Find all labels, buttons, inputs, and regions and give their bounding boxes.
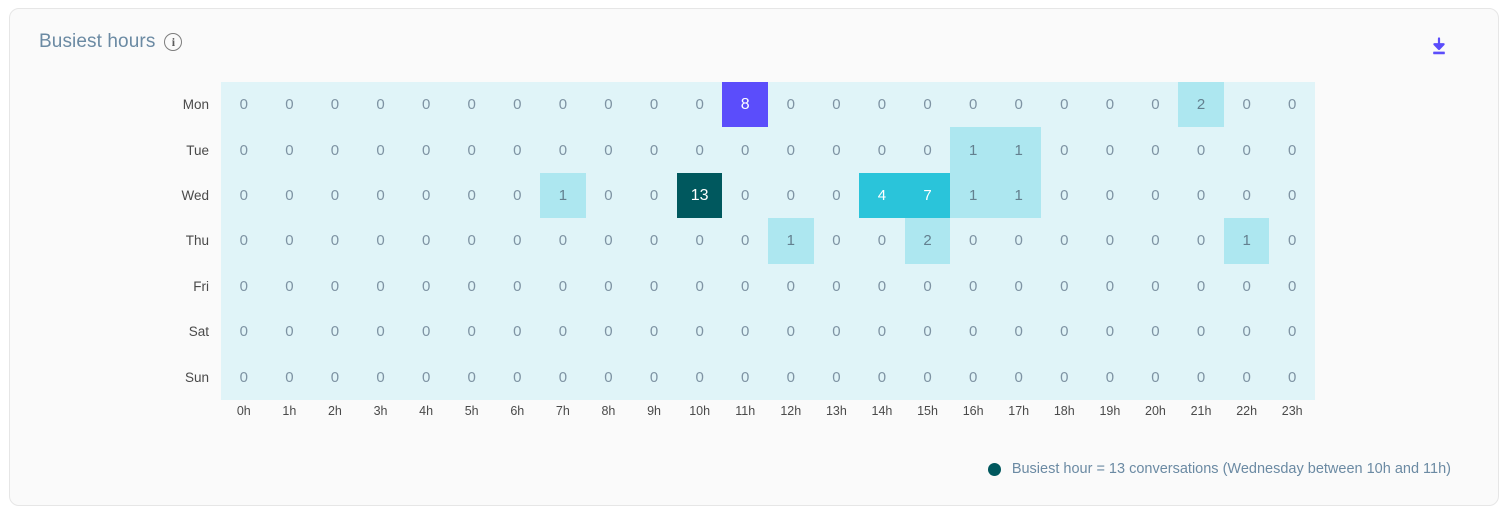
heatmap-cell-sat-18h[interactable]: 0	[1041, 309, 1087, 354]
hour-label-10h: 10h	[677, 404, 723, 418]
hour-label-17h: 17h	[996, 404, 1042, 418]
hour-label-6h: 6h	[494, 404, 540, 418]
heatmap-cell-fri-3h[interactable]: 0	[358, 264, 404, 309]
hour-label-4h: 4h	[403, 404, 449, 418]
heatmap-cell-sat-11h[interactable]: 0	[722, 309, 768, 354]
hour-label-9h: 9h	[631, 404, 677, 418]
heatmap-cell-mon-18h[interactable]: 0	[1041, 82, 1087, 127]
heatmap-cell-mon-7h[interactable]: 0	[540, 82, 586, 127]
heatmap-cell-wed-15h[interactable]: 7	[905, 173, 951, 218]
heatmap-cell-sat-2h[interactable]: 0	[312, 309, 358, 354]
heatmap-cell-sat-17h[interactable]: 0	[996, 309, 1042, 354]
hour-label-2h: 2h	[312, 404, 358, 418]
heatmap-cell-fri-10h[interactable]: 0	[677, 264, 723, 309]
heatmap-cell-sun-12h[interactable]: 0	[768, 355, 814, 400]
heatmap-cell-thu-11h[interactable]: 0	[722, 218, 768, 263]
heatmap-cell-sat-15h[interactable]: 0	[905, 309, 951, 354]
heatmap-cell-tue-13h[interactable]: 0	[814, 127, 860, 172]
heatmap-cell-tue-6h[interactable]: 0	[494, 127, 540, 172]
heatmap-cell-sun-1h[interactable]: 0	[267, 355, 313, 400]
heatmap-cell-wed-1h[interactable]: 0	[267, 173, 313, 218]
heatmap-cell-mon-21h[interactable]: 2	[1178, 82, 1224, 127]
heatmap-cell-thu-18h[interactable]: 0	[1041, 218, 1087, 263]
hour-label-11h: 11h	[722, 404, 768, 418]
heatmap-cell-sun-18h[interactable]: 0	[1041, 355, 1087, 400]
hour-label-19h: 19h	[1087, 404, 1133, 418]
heatmap-cell-tue-18h[interactable]: 0	[1041, 127, 1087, 172]
legend-label: Busiest hour = 13 conversations (Wednesd…	[1012, 461, 1451, 477]
heatmap-cell-fri-9h[interactable]: 0	[631, 264, 677, 309]
day-label-tue: Tue	[106, 127, 211, 172]
heatmap-cell-mon-15h[interactable]: 0	[905, 82, 951, 127]
heatmap-cell-sun-10h[interactable]: 0	[677, 355, 723, 400]
heatmap-cell-wed-6h[interactable]: 0	[494, 173, 540, 218]
heatmap-cell-thu-6h[interactable]: 0	[494, 218, 540, 263]
heatmap-cell-sun-5h[interactable]: 0	[449, 355, 495, 400]
heatmap-cell-fri-7h[interactable]: 0	[540, 264, 586, 309]
heatmap-cell-sat-22h[interactable]: 0	[1224, 309, 1270, 354]
hour-label-22h: 22h	[1224, 404, 1270, 418]
heatmap-cell-thu-22h[interactable]: 1	[1224, 218, 1270, 263]
heatmap-cell-sat-5h[interactable]: 0	[449, 309, 495, 354]
hour-label-0h: 0h	[221, 404, 267, 418]
heatmap-cell-tue-15h[interactable]: 0	[905, 127, 951, 172]
heatmap-cell-wed-11h[interactable]: 0	[722, 173, 768, 218]
heatmap-cell-mon-17h[interactable]: 0	[996, 82, 1042, 127]
heatmap-cell-sun-21h[interactable]: 0	[1178, 355, 1224, 400]
heatmap-cell-fri-21h[interactable]: 0	[1178, 264, 1224, 309]
day-label-sun: Sun	[106, 355, 211, 400]
heatmap-cell-wed-13h[interactable]: 0	[814, 173, 860, 218]
heatmap-cell-wed-10h[interactable]: 13	[677, 173, 723, 218]
heatmap-cell-wed-21h[interactable]: 0	[1178, 173, 1224, 218]
heatmap-cell-sat-21h[interactable]: 0	[1178, 309, 1224, 354]
heatmap-cell-thu-10h[interactable]: 0	[677, 218, 723, 263]
download-icon[interactable]	[1427, 35, 1451, 59]
heatmap-grid[interactable]: 0000000000080000000002000000000000000000…	[221, 82, 1315, 400]
day-label-wed: Wed	[106, 173, 211, 218]
heatmap-cell-fri-11h[interactable]: 0	[722, 264, 768, 309]
heatmap-cell-mon-19h[interactable]: 0	[1087, 82, 1133, 127]
hour-label-14h: 14h	[859, 404, 905, 418]
page-root: Busiest hours i MonTueWedThuFriSatSun 00…	[0, 0, 1508, 514]
heatmap-cell-mon-1h[interactable]: 0	[267, 82, 313, 127]
heatmap-cell-thu-2h[interactable]: 0	[312, 218, 358, 263]
heatmap-cell-fri-15h[interactable]: 0	[905, 264, 951, 309]
heatmap-cell-fri-8h[interactable]: 0	[586, 264, 632, 309]
heatmap-cell-thu-3h[interactable]: 0	[358, 218, 404, 263]
info-icon[interactable]: i	[164, 33, 182, 51]
heatmap-cell-fri-4h[interactable]: 0	[403, 264, 449, 309]
heatmap-cell-tue-21h[interactable]: 0	[1178, 127, 1224, 172]
heatmap-cell-sat-19h[interactable]: 0	[1087, 309, 1133, 354]
heatmap-cell-tue-2h[interactable]: 0	[312, 127, 358, 172]
heatmap-cell-sun-13h[interactable]: 0	[814, 355, 860, 400]
heatmap-cell-sat-6h[interactable]: 0	[494, 309, 540, 354]
heatmap-cell-thu-0h[interactable]: 0	[221, 218, 267, 263]
heatmap-cell-sun-14h[interactable]: 0	[859, 355, 905, 400]
heatmap-cell-sat-3h[interactable]: 0	[358, 309, 404, 354]
day-label-thu: Thu	[106, 218, 211, 263]
heatmap-cell-wed-20h[interactable]: 0	[1133, 173, 1179, 218]
heatmap-cell-sat-23h[interactable]: 0	[1269, 309, 1315, 354]
heatmap-cell-tue-22h[interactable]: 0	[1224, 127, 1270, 172]
heatmap-cell-tue-1h[interactable]: 0	[267, 127, 313, 172]
heatmap-cell-wed-5h[interactable]: 0	[449, 173, 495, 218]
heatmap-cell-wed-9h[interactable]: 0	[631, 173, 677, 218]
heatmap-cell-wed-19h[interactable]: 0	[1087, 173, 1133, 218]
heatmap-cell-sat-4h[interactable]: 0	[403, 309, 449, 354]
day-label-sat: Sat	[106, 309, 211, 354]
heatmap-cell-thu-12h[interactable]: 1	[768, 218, 814, 263]
heatmap-cell-fri-16h[interactable]: 0	[950, 264, 996, 309]
heatmap-cell-mon-3h[interactable]: 0	[358, 82, 404, 127]
heatmap-cell-sat-12h[interactable]: 0	[768, 309, 814, 354]
hour-label-21h: 21h	[1178, 404, 1224, 418]
heatmap-cell-fri-14h[interactable]: 0	[859, 264, 905, 309]
heatmap-cell-sat-7h[interactable]: 0	[540, 309, 586, 354]
heatmap-cell-wed-18h[interactable]: 0	[1041, 173, 1087, 218]
heatmap-cell-tue-4h[interactable]: 0	[403, 127, 449, 172]
heatmap-cell-fri-18h[interactable]: 0	[1041, 264, 1087, 309]
heatmap-cell-thu-7h[interactable]: 0	[540, 218, 586, 263]
heatmap-cell-tue-3h[interactable]: 0	[358, 127, 404, 172]
heatmap-cell-tue-8h[interactable]: 0	[586, 127, 632, 172]
busiest-hours-card: Busiest hours i MonTueWedThuFriSatSun 00…	[9, 8, 1499, 506]
heatmap-cell-mon-22h[interactable]: 0	[1224, 82, 1270, 127]
heatmap-cell-mon-13h[interactable]: 0	[814, 82, 860, 127]
heatmap-cell-sat-10h[interactable]: 0	[677, 309, 723, 354]
heatmap-cell-wed-0h[interactable]: 0	[221, 173, 267, 218]
hour-label-20h: 20h	[1133, 404, 1179, 418]
heatmap-cell-sat-20h[interactable]: 0	[1133, 309, 1179, 354]
heatmap-cell-sun-3h[interactable]: 0	[358, 355, 404, 400]
day-axis: MonTueWedThuFriSatSun	[106, 82, 211, 400]
heatmap-cell-thu-20h[interactable]: 0	[1133, 218, 1179, 263]
heatmap-cell-thu-23h[interactable]: 0	[1269, 218, 1315, 263]
heatmap-cell-mon-8h[interactable]: 0	[586, 82, 632, 127]
heatmap-cell-fri-19h[interactable]: 0	[1087, 264, 1133, 309]
heatmap-cell-tue-20h[interactable]: 0	[1133, 127, 1179, 172]
heatmap-cell-sun-16h[interactable]: 0	[950, 355, 996, 400]
hour-label-18h: 18h	[1041, 404, 1087, 418]
heatmap-cell-tue-9h[interactable]: 0	[631, 127, 677, 172]
busiest-hours-heatmap: MonTueWedThuFriSatSun 000000000008000000…	[221, 82, 1315, 400]
heatmap-cell-wed-7h[interactable]: 1	[540, 173, 586, 218]
heatmap-cell-thu-15h[interactable]: 2	[905, 218, 951, 263]
heatmap-cell-fri-23h[interactable]: 0	[1269, 264, 1315, 309]
hour-label-12h: 12h	[768, 404, 814, 418]
hour-label-5h: 5h	[449, 404, 495, 418]
heatmap-cell-tue-19h[interactable]: 0	[1087, 127, 1133, 172]
heatmap-cell-fri-1h[interactable]: 0	[267, 264, 313, 309]
heatmap-cell-sun-20h[interactable]: 0	[1133, 355, 1179, 400]
heatmap-cell-thu-19h[interactable]: 0	[1087, 218, 1133, 263]
heatmap-cell-thu-1h[interactable]: 0	[267, 218, 313, 263]
heatmap-cell-fri-22h[interactable]: 0	[1224, 264, 1270, 309]
heatmap-cell-thu-9h[interactable]: 0	[631, 218, 677, 263]
heatmap-cell-tue-11h[interactable]: 0	[722, 127, 768, 172]
page-title: Busiest hours	[39, 31, 155, 53]
heatmap-cell-tue-10h[interactable]: 0	[677, 127, 723, 172]
heatmap-cell-thu-21h[interactable]: 0	[1178, 218, 1224, 263]
hour-label-13h: 13h	[814, 404, 860, 418]
heatmap-cell-thu-16h[interactable]: 0	[950, 218, 996, 263]
heatmap-cell-sun-2h[interactable]: 0	[312, 355, 358, 400]
heatmap-cell-thu-13h[interactable]: 0	[814, 218, 860, 263]
day-label-fri: Fri	[106, 264, 211, 309]
heatmap-cell-wed-17h[interactable]: 1	[996, 173, 1042, 218]
heatmap-cell-wed-16h[interactable]: 1	[950, 173, 996, 218]
heatmap-cell-mon-0h[interactable]: 0	[221, 82, 267, 127]
heatmap-cell-wed-4h[interactable]: 0	[403, 173, 449, 218]
heatmap-cell-wed-8h[interactable]: 0	[586, 173, 632, 218]
heatmap-cell-sun-8h[interactable]: 0	[586, 355, 632, 400]
legend: Busiest hour = 13 conversations (Wednesd…	[988, 461, 1451, 477]
hour-label-23h: 23h	[1269, 404, 1315, 418]
heatmap-cell-thu-8h[interactable]: 0	[586, 218, 632, 263]
heatmap-cell-thu-4h[interactable]: 0	[403, 218, 449, 263]
heatmap-cell-tue-0h[interactable]: 0	[221, 127, 267, 172]
heatmap-cell-fri-13h[interactable]: 0	[814, 264, 860, 309]
heatmap-cell-fri-6h[interactable]: 0	[494, 264, 540, 309]
heatmap-cell-tue-16h[interactable]: 1	[950, 127, 996, 172]
heatmap-cell-sun-19h[interactable]: 0	[1087, 355, 1133, 400]
heatmap-cell-thu-5h[interactable]: 0	[449, 218, 495, 263]
legend-dot-icon	[988, 463, 1001, 476]
heatmap-cell-wed-14h[interactable]: 4	[859, 173, 905, 218]
heatmap-cell-sun-4h[interactable]: 0	[403, 355, 449, 400]
heatmap-cell-mon-9h[interactable]: 0	[631, 82, 677, 127]
heatmap-cell-fri-17h[interactable]: 0	[996, 264, 1042, 309]
card-header: Busiest hours i	[10, 9, 1498, 81]
heatmap-cell-sat-14h[interactable]: 0	[859, 309, 905, 354]
hour-label-3h: 3h	[358, 404, 404, 418]
heatmap-cell-tue-12h[interactable]: 0	[768, 127, 814, 172]
heatmap-cell-wed-3h[interactable]: 0	[358, 173, 404, 218]
heatmap-cell-tue-14h[interactable]: 0	[859, 127, 905, 172]
heatmap-cell-mon-12h[interactable]: 0	[768, 82, 814, 127]
hour-label-7h: 7h	[540, 404, 586, 418]
heatmap-cell-mon-4h[interactable]: 0	[403, 82, 449, 127]
heatmap-cell-wed-22h[interactable]: 0	[1224, 173, 1270, 218]
heatmap-cell-sun-9h[interactable]: 0	[631, 355, 677, 400]
heatmap-cell-tue-23h[interactable]: 0	[1269, 127, 1315, 172]
heatmap-cell-sun-6h[interactable]: 0	[494, 355, 540, 400]
heatmap-cell-wed-2h[interactable]: 0	[312, 173, 358, 218]
heatmap-cell-sun-22h[interactable]: 0	[1224, 355, 1270, 400]
hour-label-1h: 1h	[267, 404, 313, 418]
heatmap-cell-mon-11h[interactable]: 8	[722, 82, 768, 127]
heatmap-cell-tue-7h[interactable]: 0	[540, 127, 586, 172]
heatmap-cell-fri-20h[interactable]: 0	[1133, 264, 1179, 309]
heatmap-cell-fri-12h[interactable]: 0	[768, 264, 814, 309]
heatmap-cell-thu-17h[interactable]: 0	[996, 218, 1042, 263]
heatmap-cell-tue-5h[interactable]: 0	[449, 127, 495, 172]
heatmap-cell-sat-13h[interactable]: 0	[814, 309, 860, 354]
heatmap-cell-sat-16h[interactable]: 0	[950, 309, 996, 354]
hour-label-15h: 15h	[905, 404, 951, 418]
heatmap-cell-fri-0h[interactable]: 0	[221, 264, 267, 309]
hour-label-16h: 16h	[950, 404, 996, 418]
heatmap-cell-sat-8h[interactable]: 0	[586, 309, 632, 354]
heatmap-cell-sun-0h[interactable]: 0	[221, 355, 267, 400]
heatmap-cell-sun-17h[interactable]: 0	[996, 355, 1042, 400]
heatmap-cell-mon-5h[interactable]: 0	[449, 82, 495, 127]
heatmap-cell-mon-6h[interactable]: 0	[494, 82, 540, 127]
heatmap-cell-wed-12h[interactable]: 0	[768, 173, 814, 218]
heatmap-cell-sun-7h[interactable]: 0	[540, 355, 586, 400]
heatmap-cell-sun-11h[interactable]: 0	[722, 355, 768, 400]
heatmap-cell-mon-10h[interactable]: 0	[677, 82, 723, 127]
heatmap-cell-sat-9h[interactable]: 0	[631, 309, 677, 354]
heatmap-cell-fri-2h[interactable]: 0	[312, 264, 358, 309]
card-title-group: Busiest hours i	[39, 31, 182, 53]
day-label-mon: Mon	[106, 82, 211, 127]
hour-label-8h: 8h	[586, 404, 632, 418]
hour-axis: 0h1h2h3h4h5h6h7h8h9h10h11h12h13h14h15h16…	[221, 404, 1315, 418]
heatmap-cell-mon-14h[interactable]: 0	[859, 82, 905, 127]
heatmap-cell-tue-17h[interactable]: 1	[996, 127, 1042, 172]
heatmap-cell-mon-2h[interactable]: 0	[312, 82, 358, 127]
heatmap-cell-sun-23h[interactable]: 0	[1269, 355, 1315, 400]
heatmap-cell-sat-0h[interactable]: 0	[221, 309, 267, 354]
heatmap-cell-sat-1h[interactable]: 0	[267, 309, 313, 354]
heatmap-cell-mon-20h[interactable]: 0	[1133, 82, 1179, 127]
heatmap-cell-wed-23h[interactable]: 0	[1269, 173, 1315, 218]
heatmap-cell-mon-16h[interactable]: 0	[950, 82, 996, 127]
heatmap-cell-thu-14h[interactable]: 0	[859, 218, 905, 263]
heatmap-cell-fri-5h[interactable]: 0	[449, 264, 495, 309]
heatmap-cell-sun-15h[interactable]: 0	[905, 355, 951, 400]
heatmap-cell-mon-23h[interactable]: 0	[1269, 82, 1315, 127]
